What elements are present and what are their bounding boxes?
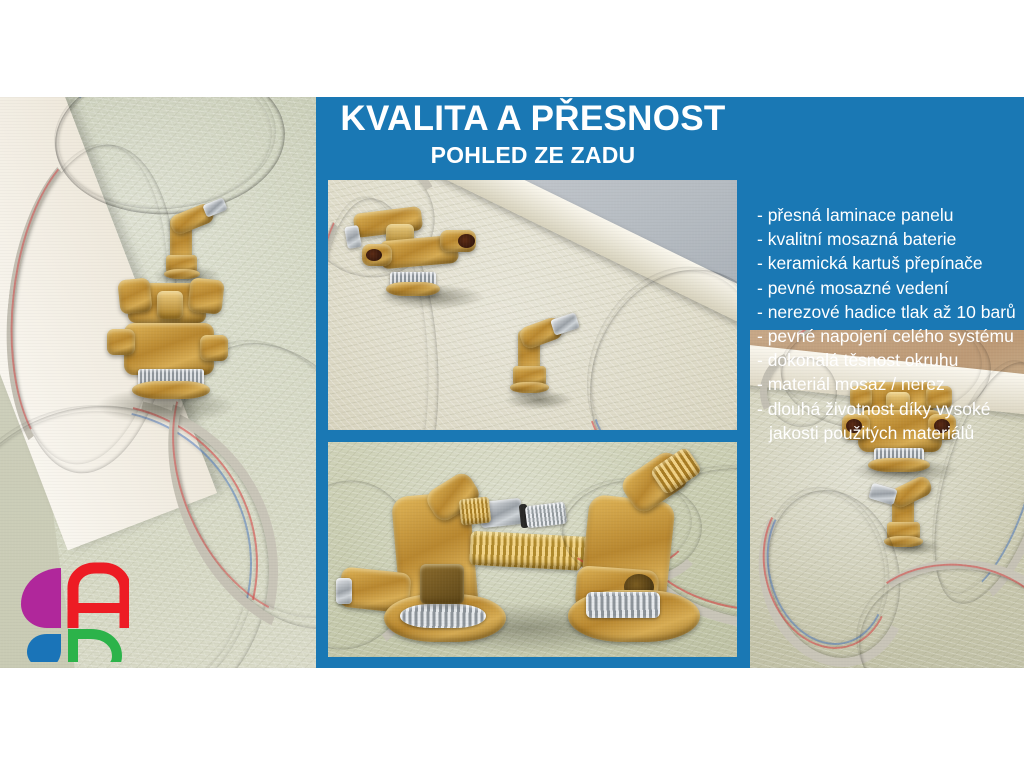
feature-item-3: - keramická kartuš přepínače xyxy=(757,251,1024,275)
photo-center-top xyxy=(328,180,737,430)
title-block: KVALITA A PŘESNOST POHLED ZE ZADU xyxy=(316,97,750,180)
logo-magenta-leaf xyxy=(21,568,61,628)
feature-list-items: - přesná laminace panelu - kvalitní mosa… xyxy=(750,203,1024,445)
logo-green-leaf xyxy=(73,634,117,662)
feature-item-5: - nerezové hadice tlak až 10 barů xyxy=(757,300,1024,324)
center-top-elbow-flange xyxy=(510,382,549,393)
feature-item-6: - pevné napojení celého systému xyxy=(757,324,1024,348)
manifold-base-flange xyxy=(132,381,210,399)
center-top-right-port-bore xyxy=(458,234,475,248)
feature-item-9-continued: jakosti použitých materiálů xyxy=(757,421,1024,445)
page-title: KVALITA A PŘESNOST xyxy=(316,100,750,138)
center-bottom-brass-thread xyxy=(459,497,492,526)
center-column: KVALITA A PŘESNOST POHLED ZE ZADU xyxy=(316,97,750,668)
feature-item-4: - pevné mosazné vedení xyxy=(757,276,1024,300)
center-bottom-left-outlet-tip xyxy=(336,578,352,604)
feature-item-8: - materiál mosaz / nerez xyxy=(757,372,1024,396)
center-top-left-port-bore xyxy=(366,249,382,261)
company-logo xyxy=(17,562,129,662)
center-bottom-right-thread-ring xyxy=(586,592,660,618)
feature-item-7: - dokonalá těsnost okruhu xyxy=(757,348,1024,372)
feature-item-9: - dlouhá životnost díky vysoké xyxy=(757,397,1024,421)
feature-item-1: - přesná laminace panelu xyxy=(757,203,1024,227)
feature-item-2: - kvalitní mosazná baterie xyxy=(757,227,1024,251)
center-top-base-flange xyxy=(386,282,440,296)
center-bottom-left-thread-ring xyxy=(400,604,486,628)
logo-red-a-outline xyxy=(73,568,125,628)
manifold-right-port-upper xyxy=(187,277,224,314)
center-bottom-left-cavity xyxy=(420,564,464,604)
logo-blue-leaf xyxy=(27,634,61,662)
right-valve-base-flange xyxy=(868,458,930,472)
feature-list: - přesná laminace panelu - kvalitní mosa… xyxy=(750,194,1024,330)
photo-collage: KVALITA A PŘESNOST POHLED ZE ZADU xyxy=(0,97,1024,668)
manifold-right-port-lower xyxy=(200,335,228,361)
manifold-left-port-upper xyxy=(117,277,152,314)
page-subtitle: POHLED ZE ZADU xyxy=(316,142,750,168)
slide-canvas: KVALITA A PŘESNOST POHLED ZE ZADU xyxy=(0,0,1024,768)
photo-center-bottom xyxy=(328,442,737,657)
center-top-elbow-shadow xyxy=(504,390,574,410)
manifold-center-cartridge xyxy=(157,291,183,319)
manifold-left-port-lower xyxy=(107,329,135,355)
